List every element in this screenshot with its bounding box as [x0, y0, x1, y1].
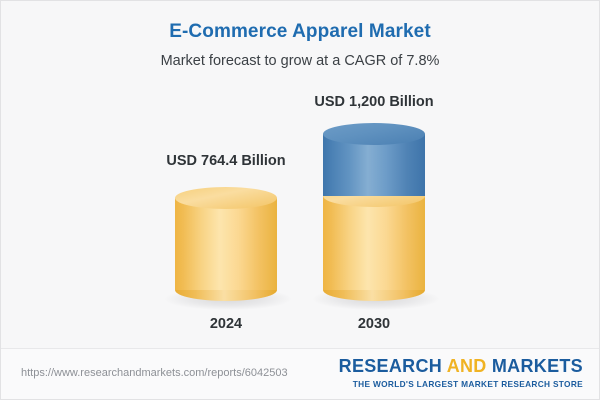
footer-bar: https://www.researchandmarkets.com/repor…	[1, 348, 600, 399]
logo-word-and: AND	[447, 356, 492, 376]
cylinder-top-cap-2024	[175, 187, 277, 209]
cylinder-body-2024-base	[175, 198, 277, 290]
logo-word-markets: MARKETS	[492, 356, 583, 376]
logo-word-research: RESEARCH	[339, 356, 447, 376]
cylinder-body-2030-base	[323, 196, 425, 290]
logo-wordmark: RESEARCH AND MARKETS	[339, 357, 583, 376]
cylinder-top-cap-2030	[323, 123, 425, 145]
category-label-2030: 2030	[264, 316, 484, 332]
bar-group-2024: USD 764.4 Billion 2024	[166, 1, 286, 349]
logo-tagline: THE WORLD'S LARGEST MARKET RESEARCH STOR…	[339, 379, 583, 389]
cylinder-2024	[175, 187, 277, 301]
bar-value-label-2030: USD 1,200 Billion	[264, 94, 484, 110]
report-url[interactable]: https://www.researchandmarkets.com/repor…	[21, 367, 288, 379]
chart-plot-area: USD 764.4 Billion 2024 USD 1,200 Billion	[1, 1, 600, 349]
bar-group-2030: USD 1,200 Billion 2030	[314, 1, 434, 349]
cylinder-2030	[323, 123, 425, 301]
brand-logo[interactable]: RESEARCH AND MARKETS THE WORLD'S LARGEST…	[339, 357, 583, 389]
bar-value-label-2024: USD 764.4 Billion	[116, 153, 336, 169]
infographic-card: E-Commerce Apparel Market Market forecas…	[0, 0, 600, 400]
